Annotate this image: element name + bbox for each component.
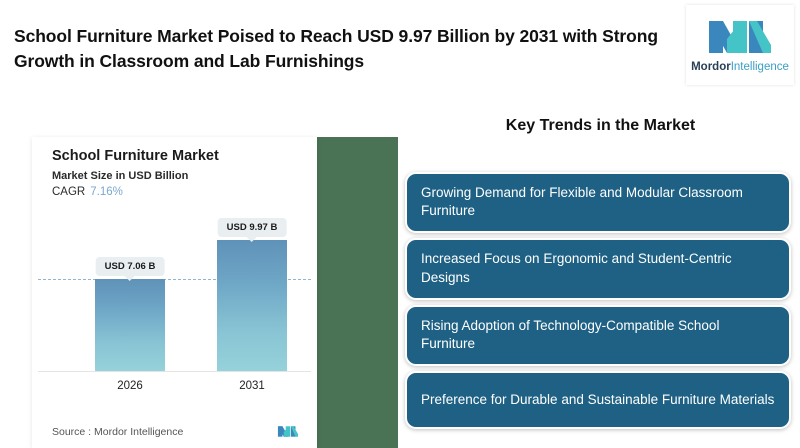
mordor-m-icon: [707, 17, 773, 57]
trend-card[interactable]: Increased Focus on Ergonomic and Student…: [405, 238, 791, 299]
header: School Furniture Market Poised to Reach …: [0, 0, 800, 100]
axis-baseline: [38, 371, 311, 372]
source-mordor-m-icon: [277, 425, 299, 438]
trend-card-label: Rising Adoption of Technology-Compatible…: [421, 317, 775, 353]
background-accent-band: [317, 137, 398, 448]
x-axis-tick-2031: 2031: [239, 380, 265, 392]
trend-card[interactable]: Preference for Durable and Sustainable F…: [405, 371, 791, 429]
trend-card[interactable]: Rising Adoption of Technology-Compatible…: [405, 305, 791, 366]
chart-subtitle: Market Size in USD Billion: [52, 170, 188, 182]
chart-title: School Furniture Market: [52, 148, 219, 164]
cagr-label: CAGR: [52, 186, 85, 198]
logo-word-primary: Mordor: [691, 61, 731, 73]
bar-chart-plot: USD 7.06 B2026USD 9.97 B2031: [32, 199, 317, 409]
logo-word-secondary: Intelligence: [731, 61, 789, 73]
page-title: School Furniture Market Poised to Reach …: [14, 24, 674, 74]
chart-card: School Furniture Market Market Size in U…: [32, 137, 317, 448]
trend-card[interactable]: Growing Demand for Flexible and Modular …: [405, 172, 791, 233]
trend-card-label: Growing Demand for Flexible and Modular …: [421, 184, 775, 220]
trends-list: Growing Demand for Flexible and Modular …: [405, 172, 791, 434]
trend-card-label: Increased Focus on Ergonomic and Student…: [421, 250, 775, 286]
x-axis-tick-2026: 2026: [117, 380, 143, 392]
chart-source: Source : Mordor Intelligence: [52, 426, 183, 438]
cagr-value: 7.16%: [90, 186, 123, 198]
trends-heading: Key Trends in the Market: [413, 117, 788, 135]
bar-2026: [95, 279, 165, 371]
brand-logo: MordorIntelligence: [686, 5, 794, 85]
bar-value-label-2031: USD 9.97 B: [218, 218, 287, 237]
bar-2031: [217, 240, 287, 371]
trend-card-label: Preference for Durable and Sustainable F…: [421, 391, 774, 409]
bar-value-label-2026: USD 7.06 B: [96, 257, 165, 276]
cagr-row: CAGR7.16%: [52, 186, 123, 198]
logo-wordmark: MordorIntelligence: [691, 62, 789, 74]
